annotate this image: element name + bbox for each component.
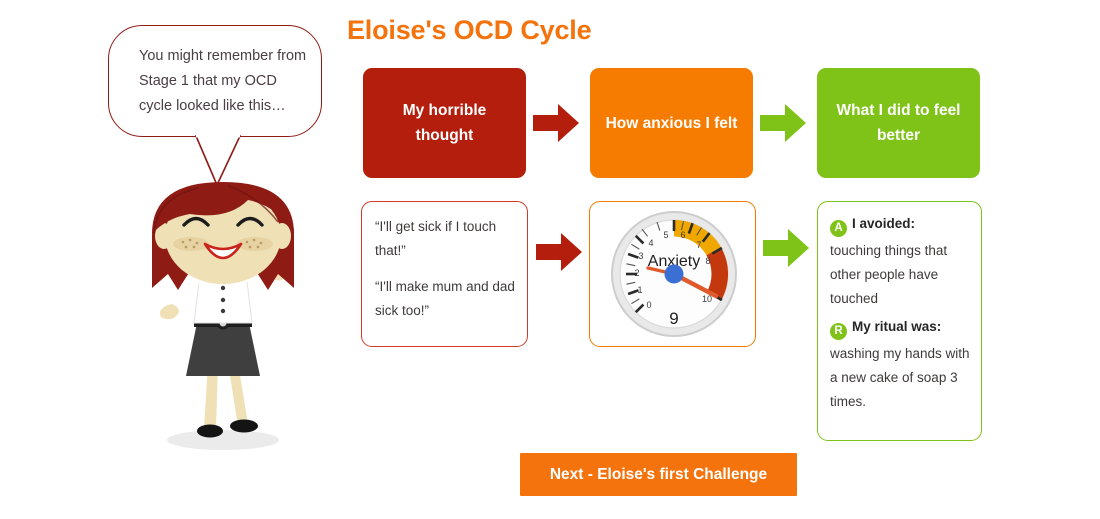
speech-bubble-text: You might remember from Stage 1 that my … [139,44,307,119]
svg-text:0: 0 [646,300,651,310]
action-avoided-heading: AI avoided: [830,214,973,237]
avoided-badge-icon: A [830,220,847,237]
ritual-badge-icon: R [830,323,847,340]
svg-text:6: 6 [680,230,685,240]
flow-step-better: What I did to feel better [817,68,980,178]
arrow-right-icon-thought-to-anxious [533,104,579,142]
ritual-heading-text: My ritual was: [852,319,941,334]
gauge-value: 9 [669,309,678,328]
page-title: Eloise's OCD Cycle [347,15,591,46]
svg-text:3: 3 [638,251,643,261]
svg-text:2: 2 [634,268,639,278]
detail-box-quotes: “I'll get sick if I touch that!” “I'll m… [361,201,528,347]
speech-bubble: You might remember from Stage 1 that my … [108,25,322,137]
eloise-illustration [128,178,318,453]
flow-step-anxious: How anxious I felt [590,68,753,178]
svg-text:8: 8 [705,256,710,266]
action-ritual-body: washing my hands with a new cake of soap… [830,342,973,414]
arrow-right-icon-anxious-to-better [760,104,806,142]
action-avoided-body: touching things that other people have t… [830,239,973,311]
detail-box-actions: AI avoided: touching things that other p… [817,201,982,441]
quote-line-2: “I'll make mum and dad sick too!” [375,275,521,323]
svg-text:1: 1 [637,285,642,295]
action-ritual-heading: RMy ritual was: [830,317,973,340]
avoided-heading-text: I avoided: [852,216,915,231]
flow-step-thought: My horrible thought [363,68,526,178]
detail-box-gauge: 0 1 2 3 4 5 6 7 8 10 Anxiety 9 [589,201,756,347]
action-ritual: RMy ritual was: washing my hands with a … [830,317,973,414]
svg-text:5: 5 [663,230,668,240]
arrow-right-icon-quotes-to-gauge [536,233,582,271]
svg-text:4: 4 [648,238,653,248]
action-avoided: AI avoided: touching things that other p… [830,214,973,311]
svg-text:7: 7 [696,240,701,250]
next-challenge-button[interactable]: Next - Eloise's first Challenge [520,453,797,496]
quote-line-1: “I'll get sick if I touch that!” [375,215,521,263]
anxiety-gauge: 0 1 2 3 4 5 6 7 8 10 Anxiety 9 [608,208,740,340]
arrow-right-icon-gauge-to-actions [763,229,809,267]
